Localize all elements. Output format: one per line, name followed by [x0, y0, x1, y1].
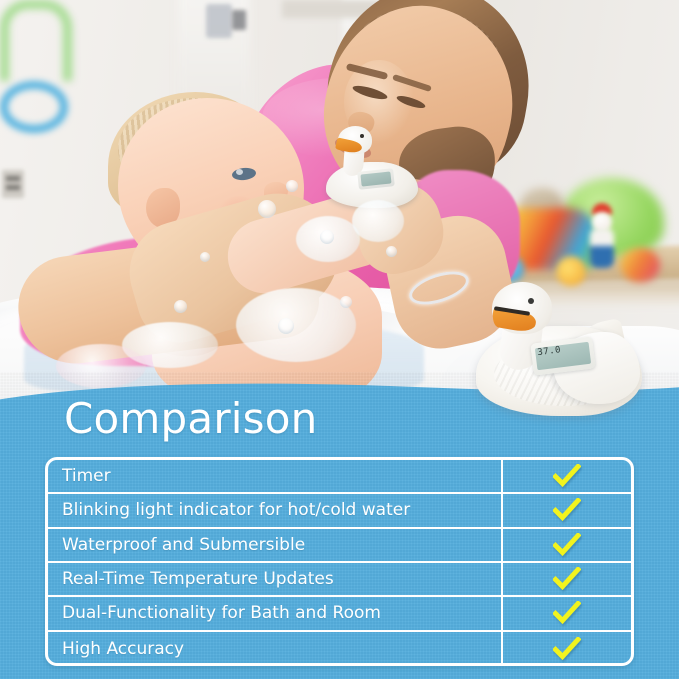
product-comparison-infographic: 37.0 Comparison Timer Blinking light ind…: [0, 0, 679, 679]
table-row: Waterproof and Submersible: [48, 529, 631, 563]
toy-blob: [620, 248, 660, 282]
soap-bubble: [340, 296, 352, 308]
check-icon: [553, 464, 581, 488]
soap-bubble: [320, 230, 334, 244]
table-row: Blinking light indicator for hot/cold wa…: [48, 494, 631, 528]
feature-label: Blinking light indicator for hot/cold wa…: [48, 494, 503, 526]
swan-held-eye-icon: [360, 134, 364, 138]
page-title: Comparison: [64, 398, 317, 440]
soap-suds-cluster: [236, 288, 356, 362]
feature-included-cell: [503, 529, 631, 561]
check-icon: [553, 533, 581, 557]
table-row: Timer: [48, 460, 631, 494]
feature-included-cell: [503, 494, 631, 526]
toy-ring: [0, 81, 68, 133]
baby-eye-highlight: [236, 169, 243, 175]
wall-outlet-icon: [2, 170, 24, 198]
feature-label: Dual-Functionality for Bath and Room: [48, 597, 503, 629]
swan-held-lcd-display: [357, 168, 395, 190]
feature-included-cell: [503, 597, 631, 629]
feature-included-cell: [503, 563, 631, 595]
soap-bubble: [200, 252, 210, 262]
soap-bubble: [386, 246, 397, 257]
soap-bubble: [258, 200, 276, 218]
feature-label: High Accuracy: [48, 632, 503, 666]
feature-label: Real-Time Temperature Updates: [48, 563, 503, 595]
swan-thermometer-product: 37.0: [470, 282, 646, 412]
toy-figure-body: [590, 228, 614, 268]
swan-eye-icon: [528, 298, 534, 304]
soap-bubble: [174, 300, 187, 313]
table-row: Dual-Functionality for Bath and Room: [48, 597, 631, 631]
toy-arch: [0, 0, 72, 81]
check-icon: [553, 567, 581, 591]
wall-switch-icon: [206, 4, 232, 38]
soap-suds-cluster: [352, 200, 404, 242]
table-row: Real-Time Temperature Updates: [48, 563, 631, 597]
check-icon: [553, 601, 581, 625]
feature-label: Timer: [48, 460, 503, 492]
soap-bubble: [278, 318, 294, 334]
feature-included-cell: [503, 632, 631, 666]
check-icon: [553, 498, 581, 522]
comparison-table: Timer Blinking light indicator for hot/c…: [45, 457, 634, 666]
swan-thermometer-held: [324, 126, 420, 208]
wall-switch-secondary-icon: [232, 10, 246, 30]
soap-bubble: [286, 180, 298, 192]
feature-label: Waterproof and Submersible: [48, 529, 503, 561]
feature-included-cell: [503, 460, 631, 492]
table-row: High Accuracy: [48, 632, 631, 666]
check-icon: [553, 637, 581, 661]
